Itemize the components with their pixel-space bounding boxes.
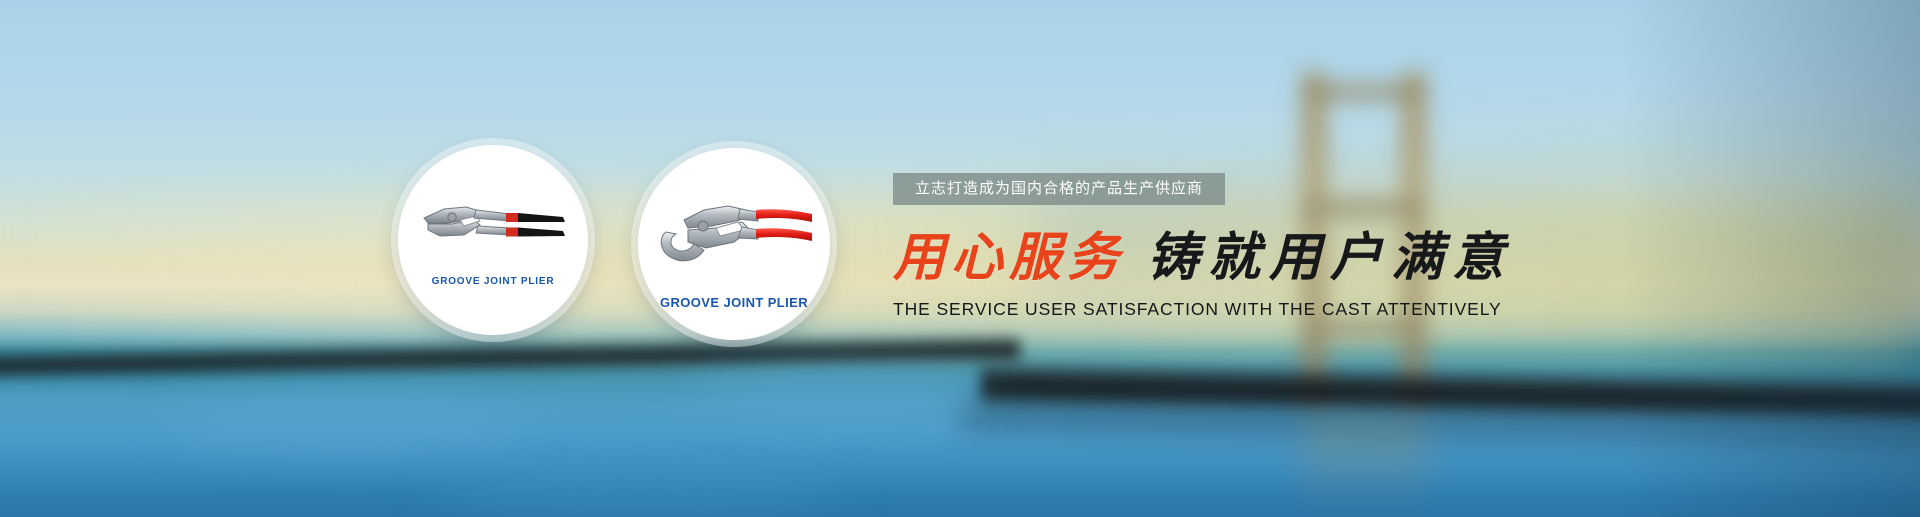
product-label: GROOVE JOINT PLIER: [660, 295, 808, 310]
bridge-reflection: [1300, 420, 1428, 517]
headline-primary: 用心服务: [893, 230, 1125, 287]
product-label: GROOVE JOINT PLIER: [432, 276, 555, 287]
product-circle-1[interactable]: GROOVE JOINT PLIER: [398, 145, 588, 335]
product-circle-2[interactable]: GROOVE JOINT PLIER: [638, 148, 830, 340]
water-glint: [170, 400, 530, 446]
bridge-crossbeam: [1301, 320, 1427, 336]
headline-secondary: 铸就用户满意: [1147, 230, 1513, 287]
headline: 用心服务铸就用户满意: [893, 233, 1513, 285]
bridge-crossbeam: [1301, 84, 1427, 100]
groove-joint-plier-icon: [398, 145, 588, 335]
hero-banner: GROOVE JOINT PLIER: [0, 0, 1920, 517]
water-glint: [690, 372, 990, 412]
groove-joint-plier-icon: [638, 148, 830, 340]
water-glint: [430, 470, 850, 514]
right-vignette: [1620, 0, 1920, 517]
banner-copy: 立志打造成为国内合格的产品生产供应商 用心服务铸就用户满意 THE SERVIC…: [893, 173, 1513, 320]
tagline-badge: 立志打造成为国内合格的产品生产供应商: [893, 173, 1225, 205]
headline-subtitle: THE SERVICE USER SATISFACTION WITH THE C…: [893, 299, 1513, 320]
